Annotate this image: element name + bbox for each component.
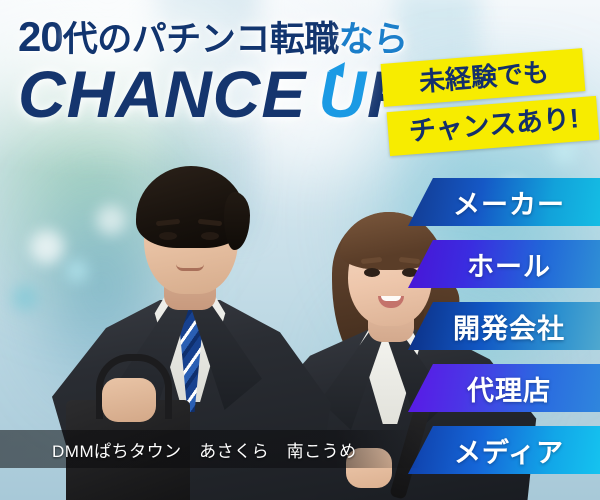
headline-line-1-accent: なら [339, 20, 408, 59]
up-letter-u: U [318, 58, 367, 132]
headline-chance-word: CHANCE [18, 57, 306, 131]
eye-right [201, 232, 219, 240]
headline-line-1: 20代のパチンコ転職なら [18, 14, 448, 60]
mouth [176, 264, 204, 271]
category-button-media[interactable]: メディア [408, 426, 600, 474]
category-button-maker[interactable]: メーカー [408, 178, 600, 226]
credit-caption-bar: DMMぱちタウン あさくら 南こうめ [0, 430, 420, 468]
eye-left [159, 232, 177, 240]
category-button-hall[interactable]: ホール [408, 240, 600, 288]
hair [136, 166, 246, 248]
headline-line-1-main: 代のパチンコ転職 [63, 20, 339, 59]
category-button-agency[interactable]: 代理店 [408, 364, 600, 412]
category-button-development[interactable]: 開発会社 [408, 302, 600, 350]
headline-age-number: 20 [18, 13, 63, 60]
badge-line-2: チャンスあり! [387, 96, 600, 156]
recruitment-banner: 20代のパチンコ転職なら CHANCEUP 未経験でも チャンスあり! メーカー… [0, 0, 600, 500]
credit-caption-text: DMMぱちタウン あさくら 南こうめ [0, 437, 357, 462]
bokeh-light [12, 285, 38, 311]
category-label: ホール [457, 245, 551, 284]
inexperience-badge: 未経験でも チャンスあり! [382, 56, 598, 148]
category-label: 開発会社 [443, 307, 565, 346]
eye-left [364, 268, 380, 277]
category-label: メーカー [443, 183, 565, 222]
category-list: メーカー ホール 開発会社 代理店 メディア [408, 178, 600, 488]
category-label: メディア [444, 431, 564, 470]
hand [102, 378, 156, 422]
category-label: 代理店 [457, 369, 551, 408]
